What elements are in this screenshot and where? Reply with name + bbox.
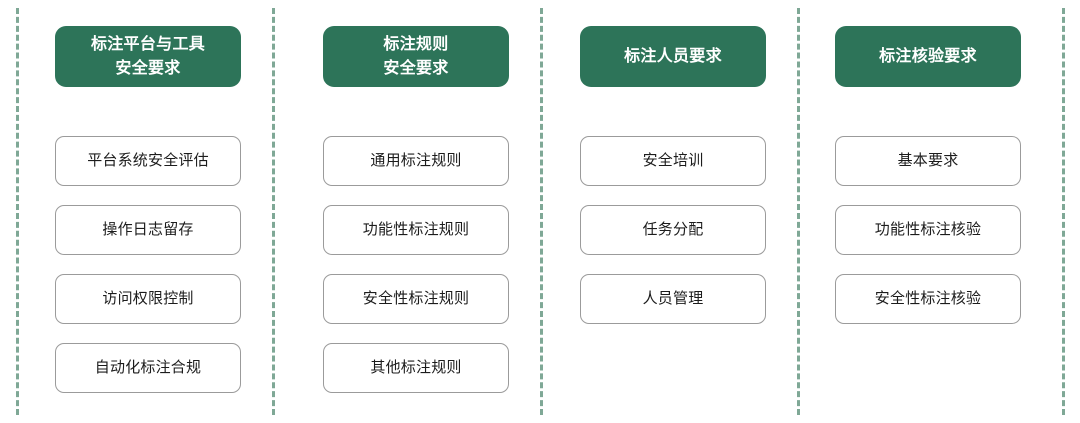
- item-label: 操作日志留存: [102, 221, 193, 239]
- column-1: 标注平台与工具 安全要求平台系统安全评估操作日志留存访问权限控制自动化标注合规: [55, 0, 241, 423]
- item-label: 功能性标注核验: [875, 221, 981, 239]
- diagram-canvas: 标注平台与工具 安全要求平台系统安全评估操作日志留存访问权限控制自动化标注合规标…: [0, 0, 1080, 423]
- column-header-label: 标注规则 安全要求: [383, 33, 448, 79]
- item-label: 访问权限控制: [102, 290, 193, 308]
- item-label: 基本要求: [898, 152, 959, 170]
- item-label: 平台系统安全评估: [87, 152, 209, 170]
- item-label: 功能性标注规则: [363, 221, 469, 239]
- column-item-list-3: 安全培训任务分配人员管理: [580, 136, 766, 343]
- item-box[interactable]: 安全性标注规则: [323, 274, 509, 324]
- item-label: 人员管理: [643, 290, 704, 308]
- item-box[interactable]: 基本要求: [835, 136, 1021, 186]
- item-box[interactable]: 功能性标注规则: [323, 205, 509, 255]
- column-header-label: 标注人员要求: [624, 45, 722, 68]
- item-label: 安全性标注核验: [875, 290, 981, 308]
- column-divider-4: [797, 8, 800, 415]
- column-item-list-4: 基本要求功能性标注核验安全性标注核验: [835, 136, 1021, 343]
- item-box[interactable]: 其他标注规则: [323, 343, 509, 393]
- item-box[interactable]: 安全培训: [580, 136, 766, 186]
- column-header-2[interactable]: 标注规则 安全要求: [323, 26, 509, 87]
- column-divider-5: [1062, 8, 1065, 415]
- column-item-list-2: 通用标注规则功能性标注规则安全性标注规则其他标注规则: [323, 136, 509, 412]
- column-header-1[interactable]: 标注平台与工具 安全要求: [55, 26, 241, 87]
- item-box[interactable]: 功能性标注核验: [835, 205, 1021, 255]
- column-header-4[interactable]: 标注核验要求: [835, 26, 1021, 87]
- column-4: 标注核验要求基本要求功能性标注核验安全性标注核验: [835, 0, 1021, 423]
- item-label: 安全性标注规则: [363, 290, 469, 308]
- item-box[interactable]: 平台系统安全评估: [55, 136, 241, 186]
- item-box[interactable]: 任务分配: [580, 205, 766, 255]
- item-box[interactable]: 访问权限控制: [55, 274, 241, 324]
- item-box[interactable]: 自动化标注合规: [55, 343, 241, 393]
- item-label: 自动化标注合规: [95, 359, 201, 377]
- column-header-label: 标注平台与工具 安全要求: [91, 33, 205, 79]
- item-box[interactable]: 人员管理: [580, 274, 766, 324]
- column-3: 标注人员要求安全培训任务分配人员管理: [580, 0, 766, 423]
- item-box[interactable]: 安全性标注核验: [835, 274, 1021, 324]
- item-label: 安全培训: [643, 152, 704, 170]
- column-divider-1: [16, 8, 19, 415]
- column-divider-2: [272, 8, 275, 415]
- item-label: 任务分配: [643, 221, 704, 239]
- column-header-label: 标注核验要求: [879, 45, 977, 68]
- column-item-list-1: 平台系统安全评估操作日志留存访问权限控制自动化标注合规: [55, 136, 241, 412]
- item-label: 通用标注规则: [370, 152, 461, 170]
- item-box[interactable]: 操作日志留存: [55, 205, 241, 255]
- column-header-3[interactable]: 标注人员要求: [580, 26, 766, 87]
- item-label: 其他标注规则: [370, 359, 461, 377]
- item-box[interactable]: 通用标注规则: [323, 136, 509, 186]
- column-divider-3: [540, 8, 543, 415]
- column-2: 标注规则 安全要求通用标注规则功能性标注规则安全性标注规则其他标注规则: [323, 0, 509, 423]
